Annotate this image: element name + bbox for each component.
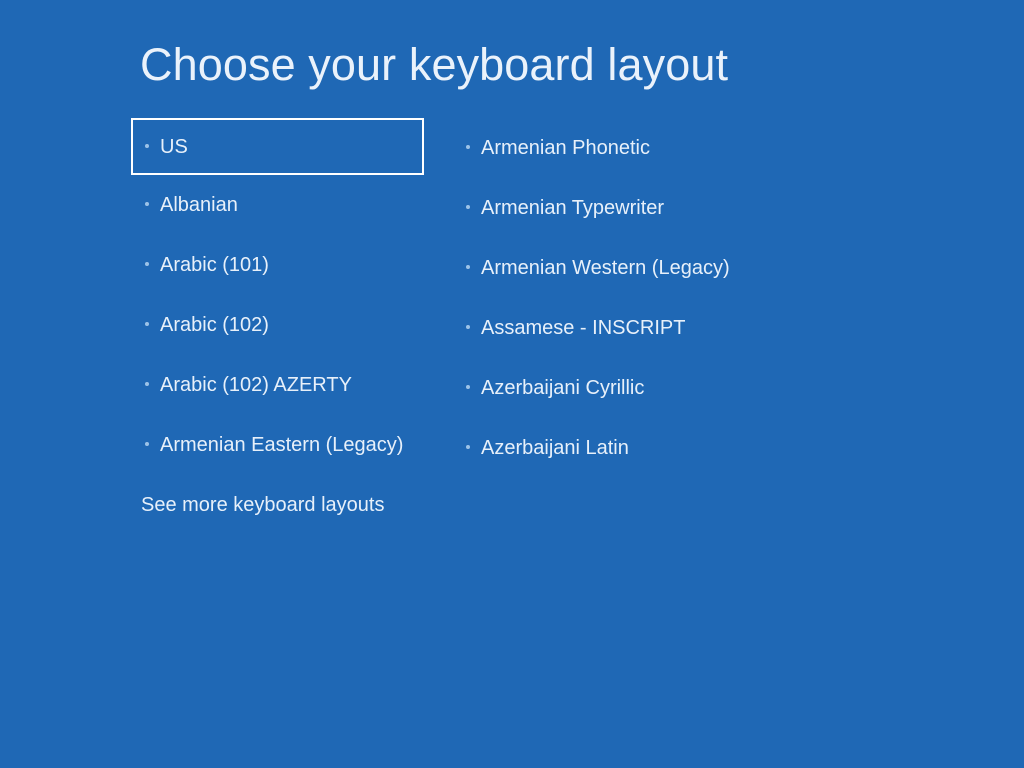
bullet-icon [145, 382, 149, 386]
page-title: Choose your keyboard layout [140, 38, 728, 92]
keyboard-layout-option-label: Azerbaijani Latin [481, 436, 629, 460]
keyboard-layout-option[interactable]: Arabic (102) [131, 295, 431, 355]
keyboard-layout-option-label: Armenian Eastern (Legacy) [160, 433, 403, 457]
keyboard-layout-option-label: Arabic (101) [160, 253, 269, 277]
keyboard-layout-option[interactable]: Albanian [131, 175, 431, 235]
bullet-icon [466, 145, 470, 149]
keyboard-layout-option-label: Armenian Phonetic [481, 136, 650, 160]
keyboard-layout-option[interactable]: Armenian Western (Legacy) [455, 238, 775, 298]
bullet-icon [466, 445, 470, 449]
bullet-icon [466, 325, 470, 329]
keyboard-layout-option[interactable]: Armenian Phonetic [455, 118, 775, 178]
bullet-icon [145, 442, 149, 446]
see-more-keyboard-layouts-link[interactable]: See more keyboard layouts [141, 492, 384, 518]
keyboard-layout-option-label: Assamese - INSCRIPT [481, 316, 685, 340]
bullet-icon [145, 202, 149, 206]
keyboard-layout-option[interactable]: Arabic (101) [131, 235, 431, 295]
bullet-icon [466, 205, 470, 209]
keyboard-layout-option-label: Arabic (102) AZERTY [160, 373, 352, 397]
keyboard-layout-option[interactable]: Assamese - INSCRIPT [455, 298, 775, 358]
keyboard-layout-option[interactable]: Azerbaijani Latin [455, 418, 775, 478]
keyboard-layout-option[interactable]: Armenian Typewriter [455, 178, 775, 238]
bullet-icon [466, 385, 470, 389]
bullet-icon [145, 144, 149, 148]
keyboard-layout-option-selected[interactable]: US [131, 118, 424, 175]
keyboard-layout-option[interactable]: Arabic (102) AZERTY [131, 355, 431, 415]
bullet-icon [466, 265, 470, 269]
bullet-icon [145, 262, 149, 266]
keyboard-layout-option-label: Albanian [160, 193, 238, 217]
keyboard-layout-list-left: USAlbanianArabic (101)Arabic (102)Arabic… [131, 118, 431, 475]
keyboard-layout-option-label: US [160, 135, 188, 159]
keyboard-layout-option-label: Azerbaijani Cyrillic [481, 376, 644, 400]
keyboard-layout-option-label: Armenian Western (Legacy) [481, 256, 730, 280]
keyboard-layout-option[interactable]: Azerbaijani Cyrillic [455, 358, 775, 418]
keyboard-layout-option-label: Armenian Typewriter [481, 196, 664, 220]
keyboard-layout-screen: Choose your keyboard layout USAlbanianAr… [0, 0, 1024, 768]
keyboard-layout-option[interactable]: Armenian Eastern (Legacy) [131, 415, 431, 475]
bullet-icon [145, 322, 149, 326]
keyboard-layout-option-label: Arabic (102) [160, 313, 269, 337]
keyboard-layout-list-right: Armenian PhoneticArmenian TypewriterArme… [455, 118, 775, 478]
